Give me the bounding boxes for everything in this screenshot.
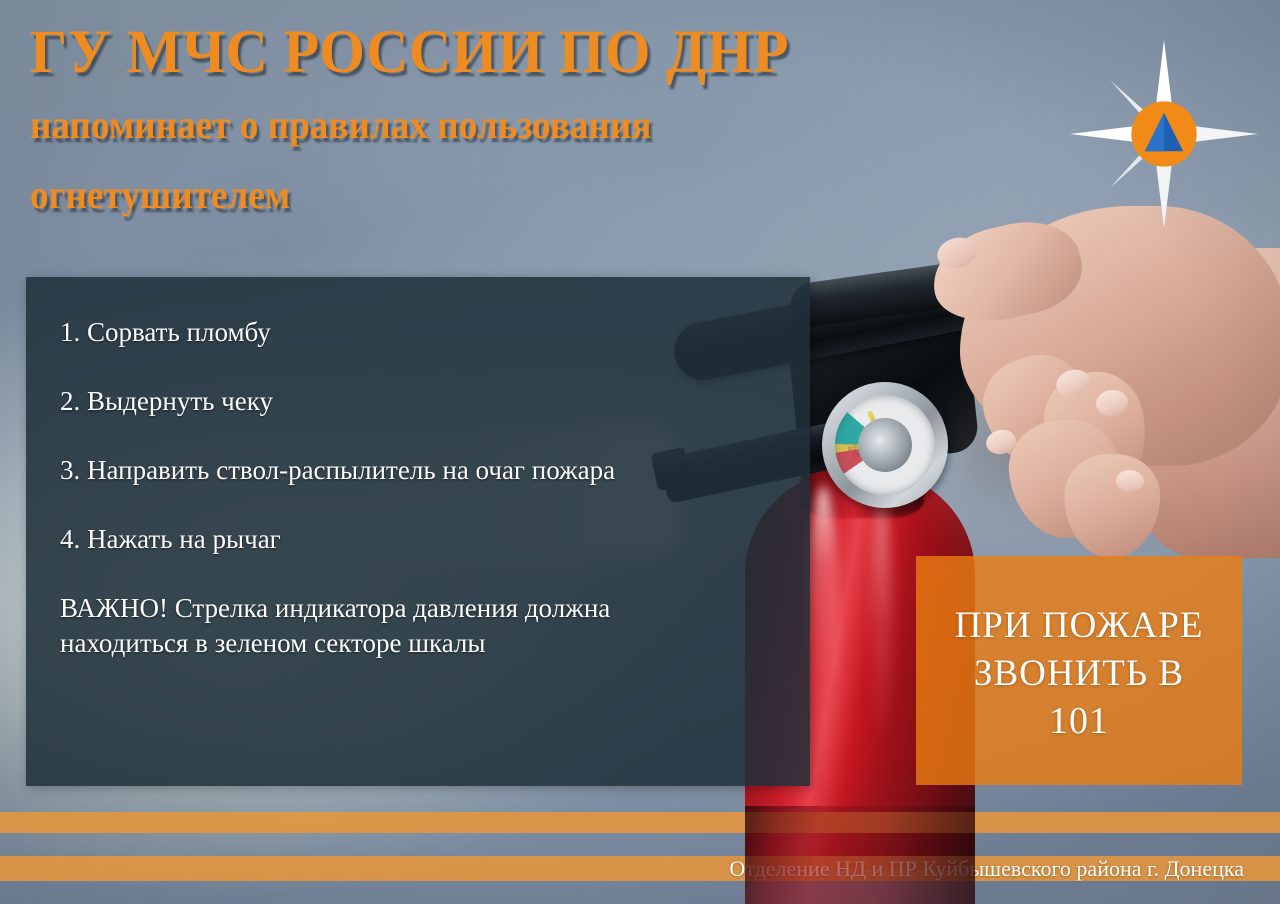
- callout-line-2: ЗВОНИТЬ В: [974, 650, 1184, 698]
- page-subtitle-line-2: огнетушителем: [30, 167, 988, 224]
- footer-stripe-lower: Отделение НД и ПР Куйбышевского района г…: [0, 856, 1280, 881]
- page-subtitle-line-1: напоминает о правилах пользования: [30, 97, 988, 154]
- emercom-star-logo: [1068, 38, 1260, 230]
- instruction-step: 3. Направить ствол-распылитель на очаг п…: [60, 453, 700, 488]
- instructions-list: 1. Сорвать пломбу 2. Выдернуть чеку 3. Н…: [26, 277, 810, 662]
- important-note: ВАЖНО! Стрелка индикатора давления должн…: [60, 591, 700, 661]
- poster-heading: ГУ МЧС РОССИИ ПО ДНР напоминает о правил…: [30, 22, 1060, 224]
- instructions-panel: 1. Сорвать пломбу 2. Выдернуть чеку 3. Н…: [26, 277, 810, 786]
- footer-stripe-upper: [0, 812, 1280, 833]
- instruction-step: 2. Выдернуть чеку: [60, 384, 700, 419]
- instruction-step: 4. Нажать на рычаг: [60, 522, 700, 557]
- page-title: ГУ МЧС РОССИИ ПО ДНР: [30, 22, 1019, 84]
- instruction-step: 1. Сорвать пломбу: [60, 315, 700, 350]
- emergency-call-callout: ПРИ ПОЖАРЕ ЗВОНИТЬ В 101: [916, 556, 1242, 785]
- poster-canvas: RECHARGE · OPERABLE: [0, 0, 1280, 904]
- callout-line-1: ПРИ ПОЖАРЕ: [955, 602, 1204, 650]
- footer-text: Отделение НД и ПР Куйбышевского района г…: [729, 858, 1280, 880]
- emergency-number: 101: [1049, 698, 1109, 744]
